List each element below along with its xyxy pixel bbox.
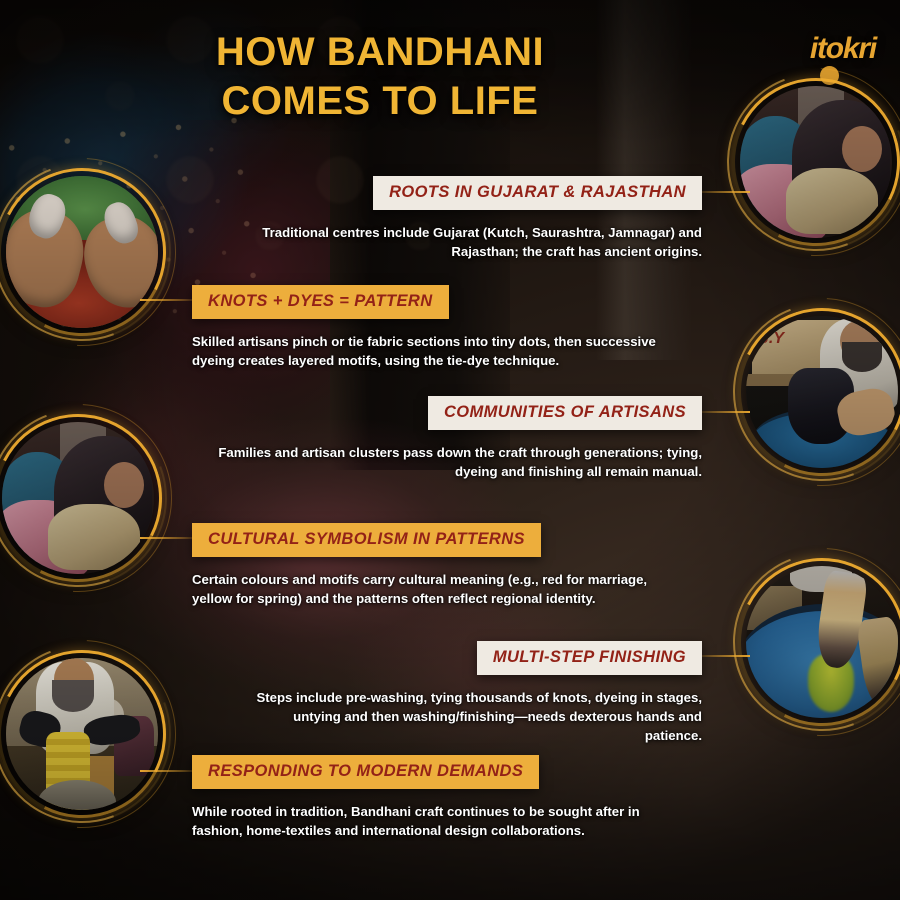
connector-line-modern <box>140 770 196 772</box>
section-body-finishing: Steps include pre-washing, tying thousan… <box>250 688 702 745</box>
section-label-roots[interactable]: ROOTS IN GUJARAT & RAJASTHAN <box>373 176 702 210</box>
section-label-modern[interactable]: RESPONDING TO MODERN DEMANDS <box>192 755 539 789</box>
section-label-knots[interactable]: KNOTS + DYES = PATTERN <box>192 285 449 319</box>
connector-line-finishing <box>698 655 750 657</box>
connector-line-roots <box>698 191 750 193</box>
section-label-symbolism[interactable]: CULTURAL SYMBOLISM IN PATTERNS <box>192 523 541 557</box>
section-knots: KNOTS + DYES = PATTERN Skilled artisans … <box>192 285 664 370</box>
section-body-communities: Families and artisan clusters pass down … <box>200 443 702 481</box>
page-title: HOW BANDHANI COMES TO LIFE <box>0 28 760 126</box>
photo-dyer-indigo-vat: J.Y <box>738 308 900 476</box>
section-body-symbolism: Certain colours and motifs carry cultura… <box>192 570 672 608</box>
infographic-canvas: HOW BANDHANI COMES TO LIFE itokri <box>0 0 900 900</box>
section-finishing: MULTI-STEP FINISHING Steps include pre-w… <box>250 641 702 745</box>
brand-logo: itokri <box>810 32 876 66</box>
photo-blue-dye-vat-rolls <box>738 558 900 726</box>
section-symbolism: CULTURAL SYMBOLISM IN PATTERNS Certain c… <box>192 523 672 608</box>
photo-artisan-yellow-dyed-cloth <box>0 650 166 818</box>
section-label-communities[interactable]: COMMUNITIES OF ARTISANS <box>428 396 702 430</box>
section-body-modern: While rooted in tradition, Bandhani craf… <box>192 802 676 840</box>
brand-logo-text: itokri <box>810 32 876 65</box>
section-label-finishing[interactable]: MULTI-STEP FINISHING <box>477 641 702 675</box>
photo-hands-tying-red-fabric <box>0 168 166 336</box>
section-roots: ROOTS IN GUJARAT & RAJASTHAN Traditional… <box>220 176 702 261</box>
connector-line-knots <box>140 299 196 301</box>
section-body-knots: Skilled artisans pinch or tie fabric sec… <box>192 332 664 370</box>
section-modern: RESPONDING TO MODERN DEMANDS While roote… <box>192 755 676 840</box>
photo-women-tying-saree <box>732 78 900 246</box>
section-body-roots: Traditional centres include Gujarat (Kut… <box>220 223 702 261</box>
connector-line-symbolism <box>140 537 196 539</box>
photo-women-artisans-knotting <box>0 414 162 582</box>
connector-line-communities <box>700 411 750 413</box>
section-communities: COMMUNITIES OF ARTISANS Families and art… <box>200 396 702 481</box>
